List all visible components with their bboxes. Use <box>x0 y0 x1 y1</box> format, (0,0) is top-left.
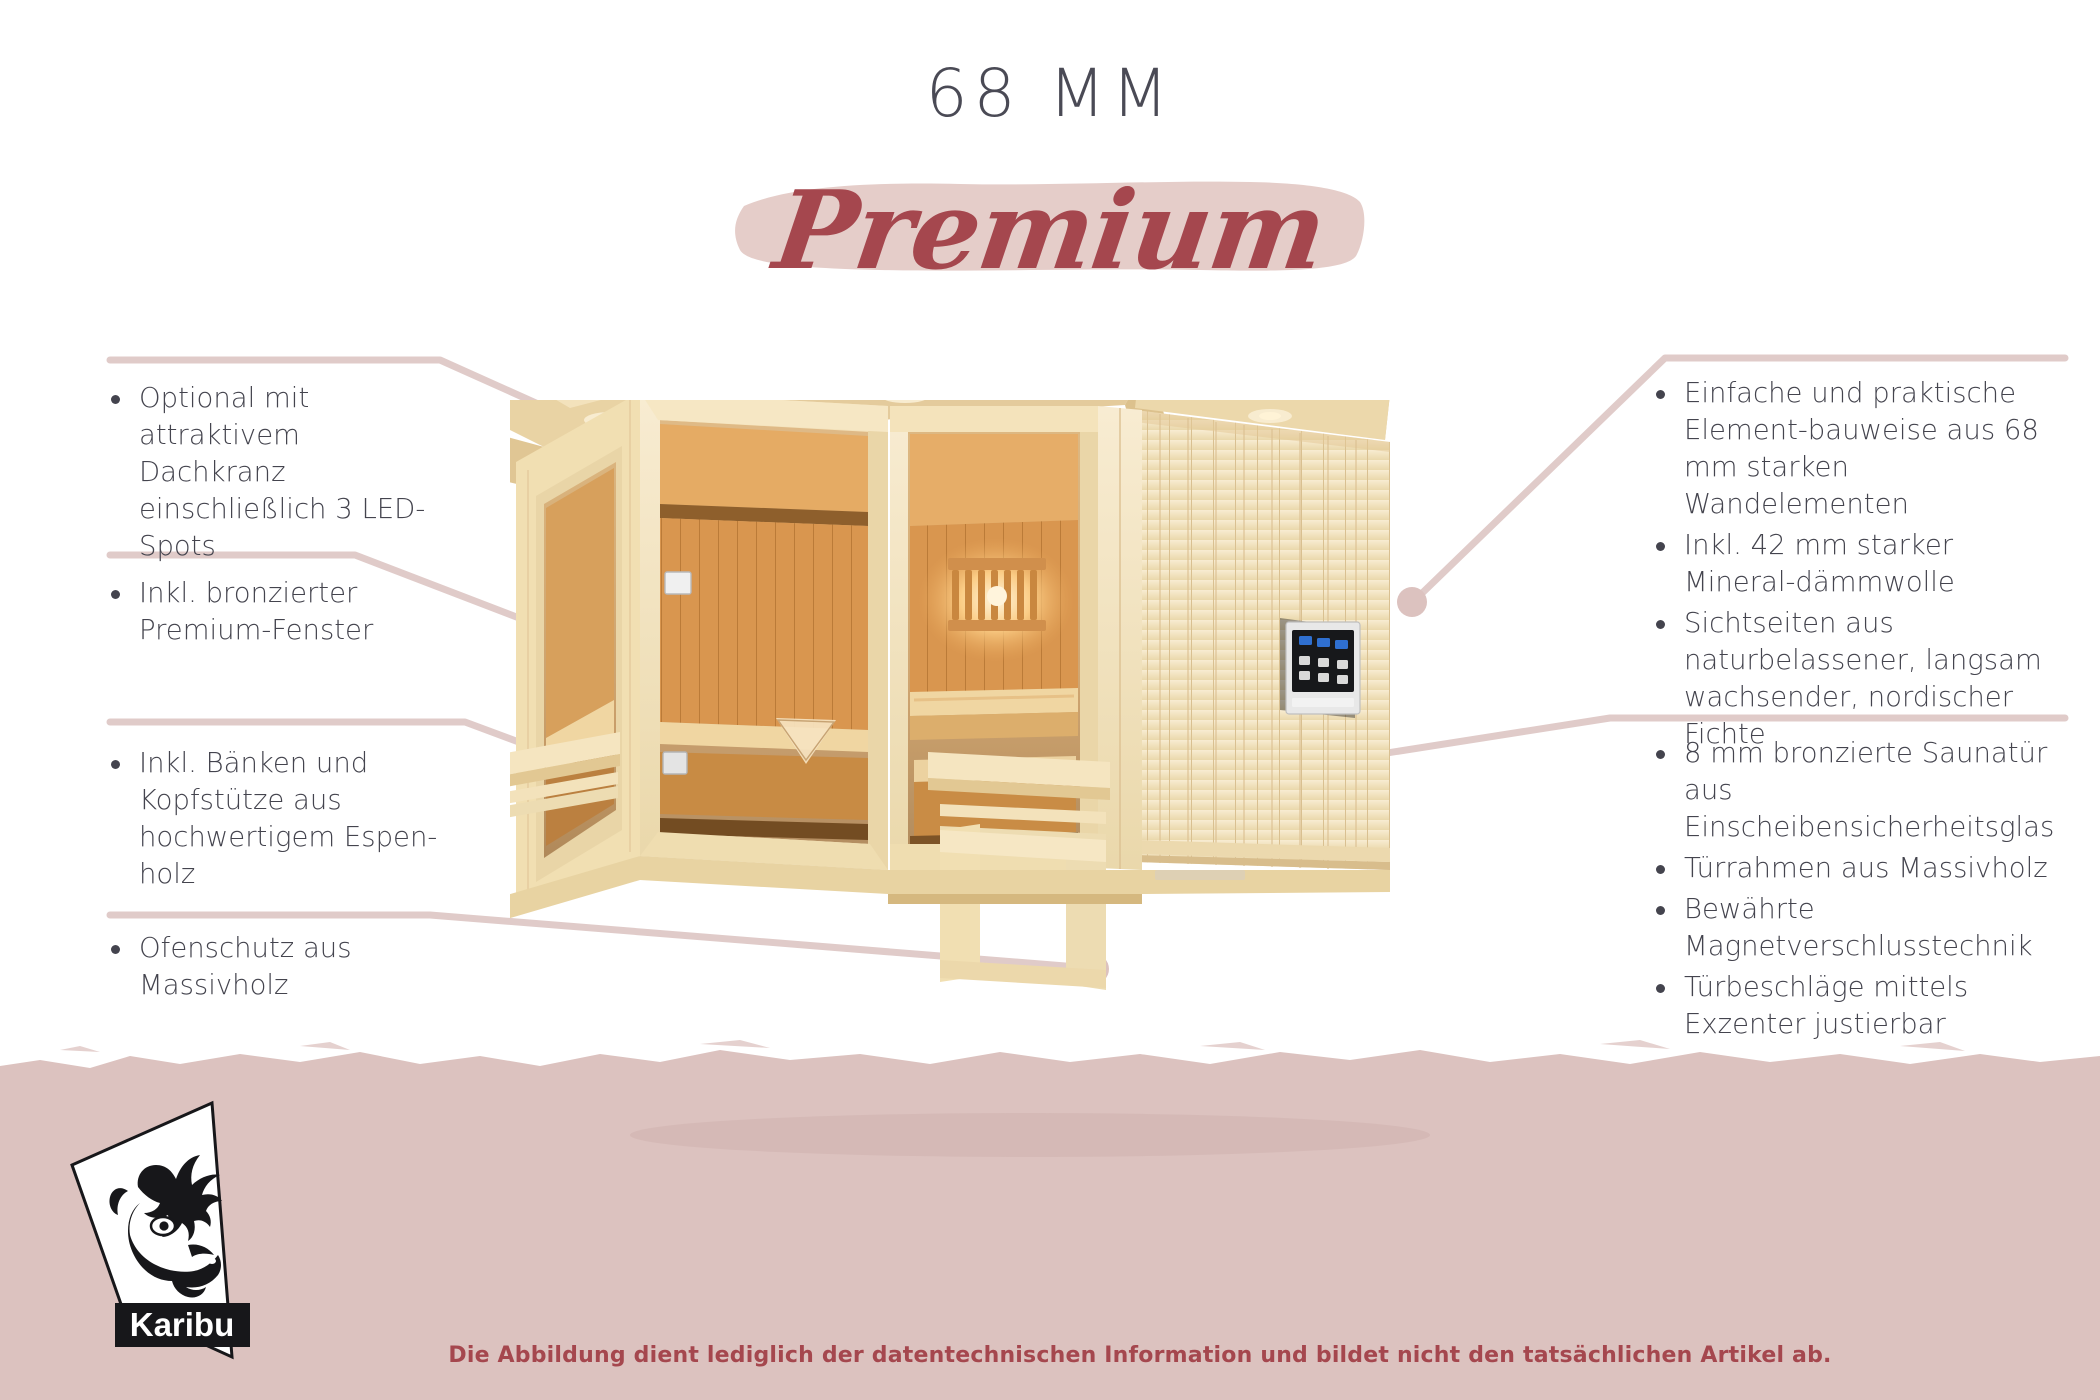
feature-block-left-1: Optional mit attraktivem Dachkranz einsc… <box>105 380 435 569</box>
karibu-logo[interactable]: Karibu <box>60 1095 280 1385</box>
infographic-canvas: 68 MM Premium <box>0 0 2100 1400</box>
glass-sauna-door[interactable] <box>640 400 888 870</box>
list-item: 8 mm bronzierte Saunatür aus Einscheiben… <box>1650 735 2080 846</box>
door-hinge-lower[interactable] <box>663 752 687 774</box>
list-item: Bewährte Magnetverschlusstechnik <box>1650 891 2080 965</box>
list-item: Optional mit attraktivem Dachkranz einsc… <box>105 380 435 565</box>
panel-indicator-2 <box>1317 638 1330 647</box>
ofenschutz-stove-guard <box>940 824 1106 990</box>
list-item: Inkl. 42 mm starker Mineral-dämmwolle <box>1650 527 2070 601</box>
footer-disclaimer: Die Abbildung dient lediglich der datent… <box>0 1343 2100 1368</box>
feature-block-right-2: 8 mm bronzierte Saunatür aus Einscheiben… <box>1650 735 2080 1047</box>
list-item: Inkl. bronzierter Premium-Fenster <box>105 575 435 649</box>
floor-shadow <box>630 1113 1430 1157</box>
corner-post-centre <box>1098 406 1142 870</box>
list-item: Sichtseiten aus naturbelassener, langsam… <box>1650 605 2070 753</box>
disclaimer-text: Die Abbildung dient lediglich der datent… <box>268 1343 1831 1368</box>
deer-eye-icon <box>151 1217 175 1235</box>
bronze-premium-window <box>890 406 1098 870</box>
bench-upper-right <box>910 688 1078 716</box>
door-handle-upper[interactable] <box>665 572 691 594</box>
feature-block-right-1: Einfache und praktische Element-bauweise… <box>1650 375 2070 757</box>
list-item: Ofenschutz aus Massivholz <box>105 930 455 1004</box>
logo-brand-text: Karibu <box>130 1306 235 1343</box>
list-item: Türbeschläge mittels Exzenter justierbar <box>1650 969 2080 1043</box>
feature-block-left-3: Inkl. Bänken und Kopfstütze aus hochwert… <box>105 745 455 897</box>
list-item: Einfache und praktische Element-bauweise… <box>1650 375 2070 523</box>
feature-block-left-4: Ofenschutz aus Massivholz <box>105 930 455 1008</box>
sauna-product-image <box>510 400 1540 1160</box>
deer-nostril-icon <box>208 1258 216 1264</box>
wall-element-left <box>516 400 640 916</box>
floor-vent <box>1155 870 1245 880</box>
list-item: Inkl. Bänken und Kopfstütze aus hochwert… <box>105 745 455 893</box>
list-item: Türrahmen aus Massivholz <box>1650 850 2080 887</box>
sauna-control-panel[interactable] <box>1280 618 1360 718</box>
panel-indicator-1 <box>1299 636 1312 645</box>
panel-label-strip <box>1292 698 1354 707</box>
feature-block-left-2: Inkl. bronzierter Premium-Fenster <box>105 575 435 653</box>
panel-indicator-3 <box>1335 640 1348 649</box>
